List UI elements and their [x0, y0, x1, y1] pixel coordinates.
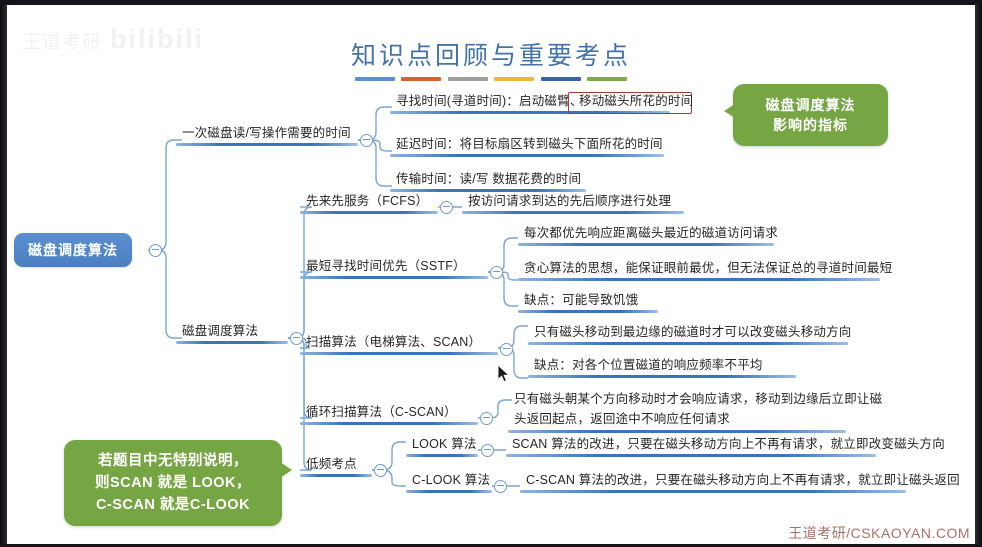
branch-disk-io-time-toggle[interactable]: [360, 134, 373, 147]
algo-sstf[interactable]: 最短寻找时间优先（SSTF）: [300, 259, 488, 279]
item-rotational-delay-label: 延迟时间：将目标扇区转到磁头下面所花的时间: [390, 137, 664, 154]
algo-scan-detail-1-label: 只有磁头移动到最边缘的磁道时才可以改变磁头移动方向: [528, 325, 848, 342]
algo-scan-detail-2[interactable]: 缺点：对各个位置磁道的响应频率不平均: [528, 358, 796, 378]
mindmap-root-node[interactable]: 磁盘调度算法: [14, 233, 132, 267]
algo-sstf-detail-3-label: 缺点：可能导致饥饿: [518, 293, 658, 310]
algo-look-detail-label: SCAN 算法的改进，只要在磁头移动方向上不再有请求，就立即改变磁头方向: [506, 437, 876, 454]
algo-fcfs[interactable]: 先来先服务（FCFS）: [300, 194, 438, 214]
algo-cscan-detail[interactable]: 只有磁头朝某个方向移动时才会响应请求，移动到边缘后立即让磁 头返回起点，返回途中…: [508, 391, 846, 433]
algo-clook-detail-label: C-SCAN 算法的改进，只要在磁头移动方向上不再有请求，就立即让磁头返回: [520, 473, 906, 490]
algo-scan-toggle[interactable]: [500, 343, 513, 356]
algo-scan-detail-1[interactable]: 只有磁头移动到最边缘的磁道时才可以改变磁头移动方向: [528, 325, 848, 345]
algo-look[interactable]: LOOK 算法: [406, 437, 478, 457]
algo-cscan-toggle[interactable]: [480, 412, 493, 425]
algo-sstf-label: 最短寻找时间优先（SSTF）: [300, 259, 488, 276]
algo-scan[interactable]: 扫描算法（电梯算法、SCAN）: [300, 335, 498, 355]
callout-metrics-line-2: 影响的指标: [739, 115, 882, 135]
title-bar-3: [448, 77, 488, 81]
algo-clook-toggle[interactable]: [494, 480, 507, 493]
algo-cscan-label: 循环扫描算法（C-SCAN）: [300, 405, 478, 422]
algo-low-frequency-label: 低频考点: [300, 457, 372, 474]
algo-cscan-detail-line-1: 只有磁头朝某个方向移动时才会响应请求，移动到边缘后立即让磁: [508, 391, 846, 410]
algo-sstf-detail-3[interactable]: 缺点：可能导致饥饿: [518, 293, 658, 313]
algo-clook[interactable]: C-LOOK 算法: [406, 473, 492, 493]
algo-sstf-detail-2[interactable]: 贪心算法的思想，能保证眼前最优，但无法保证总的寻道时间最短: [518, 261, 880, 281]
mouse-cursor-icon: [497, 364, 510, 383]
callout-metrics-line-1: 磁盘调度算法: [739, 95, 882, 115]
algo-cscan[interactable]: 循环扫描算法（C-SCAN）: [300, 405, 478, 425]
letterbox-left: [0, 0, 7, 547]
algo-fcfs-label: 先来先服务（FCFS）: [300, 194, 438, 211]
title-underline-bars: [355, 77, 627, 81]
callout-note-tail: [280, 462, 292, 478]
algo-clook-label: C-LOOK 算法: [406, 473, 492, 490]
algo-look-detail[interactable]: SCAN 算法的改进，只要在磁头移动方向上不再有请求，就立即改变磁头方向: [506, 437, 876, 457]
algo-sstf-detail-2-label: 贪心算法的思想，能保证眼前最优，但无法保证总的寻道时间最短: [518, 261, 880, 278]
algo-scan-detail-2-label: 缺点：对各个位置磁道的响应频率不平均: [528, 358, 796, 375]
algo-sstf-detail-1[interactable]: 每次都优先响应距离磁头最近的磁道访问请求: [518, 226, 774, 246]
algo-cscan-detail-line-2: 头返回起点，返回途中不响应任何请求: [508, 410, 846, 430]
callout-note-line-1: 若题目中无特别说明，: [72, 450, 274, 472]
item-transfer-time[interactable]: 传输时间：读/写 数据花费的时间: [390, 172, 586, 192]
letterbox-right: [975, 0, 982, 547]
callout-note: 若题目中无特别说明， 则SCAN 就是 LOOK， C-SCAN 就是C-LOO…: [64, 440, 282, 526]
title-bar-2: [401, 77, 441, 81]
algo-low-frequency-toggle[interactable]: [374, 464, 387, 477]
slide-canvas: 王道考研bilibili 知识点回顾与重要考点 磁盘调度算法 一次磁盘读/写操作…: [0, 0, 982, 547]
algo-fcfs-detail[interactable]: 按访问请求到达的先后顺序进行处理: [462, 194, 684, 214]
algo-sstf-toggle[interactable]: [490, 266, 503, 279]
algo-look-toggle[interactable]: [481, 444, 494, 457]
item-seek-time-highlight-label: 移动磁头所花的时间: [573, 94, 693, 111]
page-title: 知识点回顾与重要考点: [351, 36, 631, 72]
callout-note-line-2: 则SCAN 就是 LOOK，: [72, 472, 274, 494]
footer-watermark: 王道考研/CSKAOYAN.COM: [788, 523, 970, 543]
slide-title-block: 知识点回顾与重要考点: [0, 36, 982, 81]
algo-fcfs-detail-label: 按访问请求到达的先后顺序进行处理: [462, 194, 684, 211]
title-bar-1: [355, 77, 395, 81]
title-bar-6: [587, 77, 627, 81]
item-seek-time-highlight: 移动磁头所花的时间: [573, 94, 693, 111]
algo-sstf-detail-1-label: 每次都优先响应距离磁头最近的磁道访问请求: [518, 226, 774, 243]
letterbox-top: [0, 0, 982, 5]
branch-label: 一次磁盘读/写操作需要的时间: [176, 126, 358, 143]
algo-clook-detail[interactable]: C-SCAN 算法的改进，只要在磁头移动方向上不再有请求，就立即让磁头返回: [520, 473, 906, 493]
callout-metrics: 磁盘调度算法 影响的指标: [733, 84, 888, 146]
title-bar-4: [494, 77, 534, 81]
item-transfer-time-label: 传输时间：读/写 数据花费的时间: [390, 172, 586, 189]
algo-low-frequency[interactable]: 低频考点: [300, 457, 372, 477]
root-label: 磁盘调度算法: [28, 242, 118, 258]
branch-label: 磁盘调度算法: [176, 324, 288, 341]
branch-disk-io-time[interactable]: 一次磁盘读/写操作需要的时间: [176, 126, 358, 146]
branch-scheduling-algorithms[interactable]: 磁盘调度算法: [176, 324, 288, 344]
item-rotational-delay[interactable]: 延迟时间：将目标扇区转到磁头下面所花的时间: [390, 137, 664, 157]
title-bar-5: [541, 77, 581, 81]
algo-scan-label: 扫描算法（电梯算法、SCAN）: [300, 335, 498, 352]
algo-look-label: LOOK 算法: [406, 437, 478, 454]
callout-metrics-tail: [724, 104, 735, 118]
root-collapse-toggle[interactable]: [149, 244, 162, 257]
callout-note-line-3: C-SCAN 就是C-LOOK: [72, 494, 274, 516]
algo-fcfs-toggle[interactable]: [440, 201, 453, 214]
